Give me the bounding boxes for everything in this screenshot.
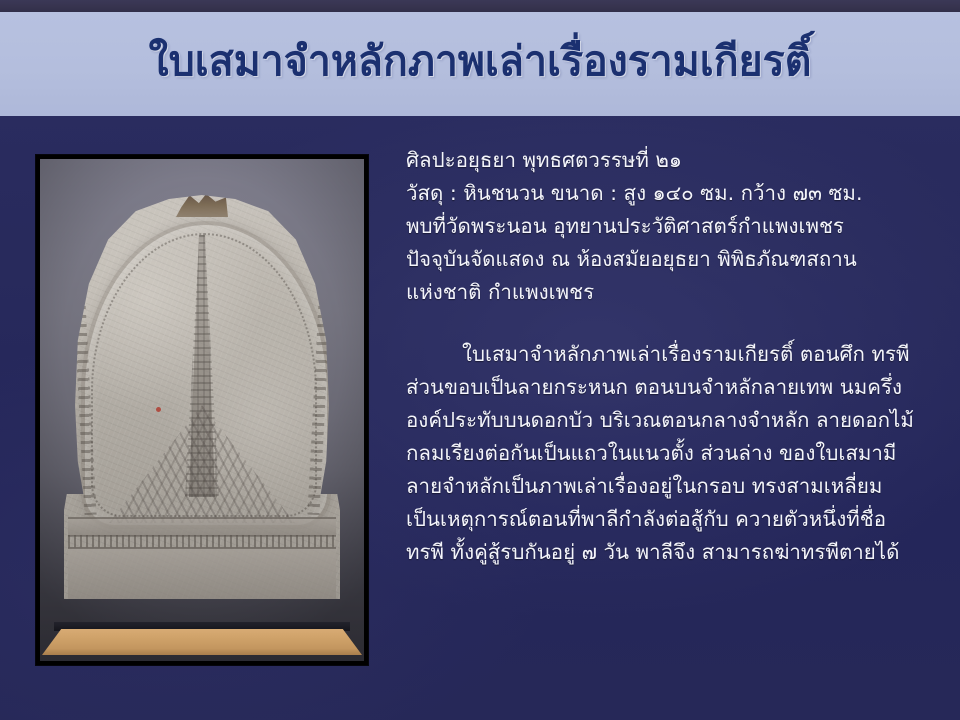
page-title: ใบเสมาจำหลักภาพเล่าเรื่องรามเกียรติ์ (149, 40, 812, 87)
artifact-metadata-line-5: แห่งชาติ กำแพงเพชร (406, 276, 914, 309)
artifact-photo-frame (36, 155, 368, 665)
artifact-metadata-line-1: ศิลปะอยุธยา พุทธศตวรรษที่ ๒๑ (406, 144, 914, 177)
top-accent-strip (0, 0, 960, 12)
stone-red-pigment-mark (156, 407, 161, 412)
title-banner: ใบเสมาจำหลักภาพเล่าเรื่องรามเกียรติ์ (0, 12, 960, 116)
description-line-1: ใบเสมาจำหลักภาพเล่าเรื่องรามเกียรติ์ ตอน… (462, 342, 865, 366)
description-line-8: สามารถฆ่าทรพีตายได้ (702, 540, 900, 564)
artifact-metadata-line-4: ปัจจุบันจัดแสดง ณ ห้องสมัยอยุธยา พิพิธภั… (406, 243, 914, 276)
sema-stone-figure (64, 195, 340, 599)
artifact-metadata-line-2: วัสดุ : หินชนวน ขนาด : สูง ๑๔๐ ซม. กว้าง… (406, 177, 914, 210)
stone-base-moulding-lower (68, 547, 336, 600)
stone-base-moulding-upper (68, 517, 336, 536)
artifact-photo (40, 159, 364, 661)
wooden-display-plinth (42, 629, 362, 655)
presentation-slide: ใบเสมาจำหลักภาพเล่าเรื่องรามเกียรติ์ (0, 0, 960, 720)
artifact-description: ใบเสมาจำหลักภาพเล่าเรื่องรามเกียรติ์ ตอน… (406, 338, 914, 569)
description-column: ศิลปะอยุธยา พุทธศตวรรษที่ ๒๑ วัสดุ : หิน… (406, 144, 914, 569)
artifact-metadata-line-3: พบที่วัดพระนอน อุทยานประวัติศาสตร์กำแพงเ… (406, 210, 914, 243)
